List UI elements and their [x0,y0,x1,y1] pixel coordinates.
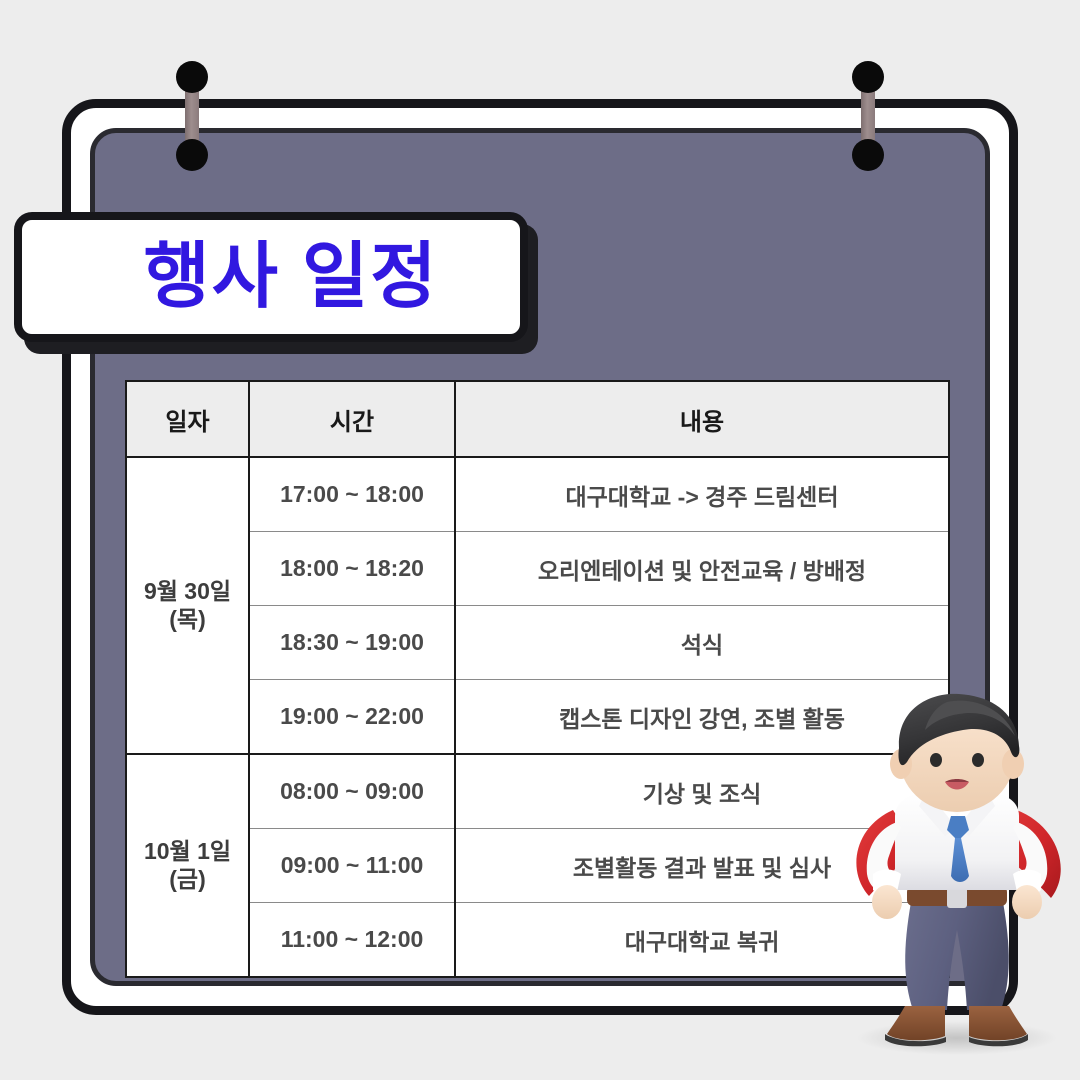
time-cell: 18:00 ~ 18:20 [249,532,455,606]
table-row: 9월 30일 (목) 17:00 ~ 18:00 대구대학교 -> 경주 드림센… [126,457,949,532]
weekday-label: (목) [169,606,205,632]
time-cell: 08:00 ~ 09:00 [249,754,455,829]
superhero-businessman-mascot-icon [835,690,1080,1060]
table-row: 18:30 ~ 19:00 석식 [126,606,949,680]
column-header-content: 내용 [455,381,949,457]
table-head: 일자 시간 내용 [126,381,949,457]
date-label: 10월 1일 [144,838,231,864]
date-label: 9월 30일 [144,578,231,604]
weekday-label: (금) [169,866,205,892]
clip-knob-top-icon [852,61,884,93]
table-row: 10월 1일 (금) 08:00 ~ 09:00 기상 및 조식 [126,754,949,829]
clip-knob-top-icon [176,61,208,93]
table-header-row: 일자 시간 내용 [126,381,949,457]
clip-knob-bottom-icon [176,139,208,171]
clip-left [172,61,212,171]
column-header-date: 일자 [126,381,249,457]
clip-right [848,61,888,171]
clip-knob-bottom-icon [852,139,884,171]
table-row: 19:00 ~ 22:00 캡스톤 디자인 강연, 조별 활동 [126,680,949,755]
page-title: 행사 일정 [104,241,439,313]
table-row: 09:00 ~ 11:00 조별활동 결과 발표 및 심사 [126,829,949,903]
table-row: 11:00 ~ 12:00 대구대학교 복귀 [126,903,949,978]
table-row: 18:00 ~ 18:20 오리엔테이션 및 안전교육 / 방배정 [126,532,949,606]
column-header-time: 시간 [249,381,455,457]
schedule-table: 일자 시간 내용 9월 30일 (목) 17:00 ~ 18:00 대구대학교 … [125,380,950,978]
content-cell: 석식 [455,606,949,680]
time-cell: 17:00 ~ 18:00 [249,457,455,532]
time-cell: 11:00 ~ 12:00 [249,903,455,978]
time-cell: 09:00 ~ 11:00 [249,829,455,903]
title-banner: 행사 일정 [14,212,528,342]
date-group-cell-0: 9월 30일 (목) [126,457,249,754]
content-cell: 대구대학교 -> 경주 드림센터 [455,457,949,532]
time-cell: 18:30 ~ 19:00 [249,606,455,680]
poster-stage: 행사 일정 일자 시간 내용 9월 30일 (목) 17:00 ~ 18:00 [0,0,1080,1080]
content-cell: 오리엔테이션 및 안전교육 / 방배정 [455,532,949,606]
time-cell: 19:00 ~ 22:00 [249,680,455,755]
table-body: 9월 30일 (목) 17:00 ~ 18:00 대구대학교 -> 경주 드림센… [126,457,949,977]
date-group-cell-1: 10월 1일 (금) [126,754,249,977]
